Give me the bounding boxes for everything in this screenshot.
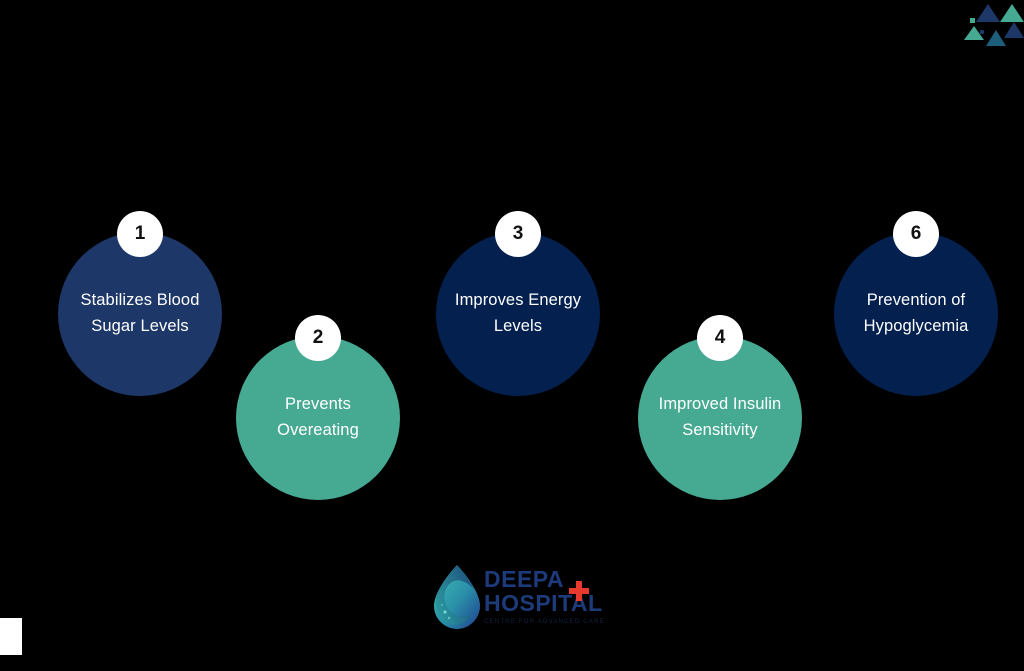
- logo-name-line-2: HOSPITAL: [484, 592, 612, 616]
- node-2: Prevents Overeating 2: [236, 336, 400, 500]
- node-6: Prevention of Hypoglycemia 6: [834, 232, 998, 396]
- node-3: Improves Energy Levels 3: [436, 232, 600, 396]
- node-badge-2: 2: [295, 315, 341, 361]
- decorative-triangles-icon: [962, 0, 1024, 52]
- corner-patch: [0, 618, 22, 655]
- brand-logo: DEEPA HOSPITAL CENTRE FOR ADVANCED CARE: [428, 558, 608, 636]
- water-drop-icon: [428, 562, 486, 632]
- node-4: Improved Insulin Sensitivity 4: [638, 336, 802, 500]
- node-badge-1: 1: [117, 211, 163, 257]
- logo-tagline: CENTRE FOR ADVANCED CARE: [484, 618, 612, 625]
- node-1: Stabilizes Blood Sugar Levels 1: [58, 232, 222, 396]
- node-label-1: Stabilizes Blood Sugar Levels: [64, 288, 215, 339]
- node-label-4: Improved Insulin Sensitivity: [643, 392, 798, 443]
- logo-wordmark: DEEPA HOSPITAL CENTRE FOR ADVANCED CARE: [484, 568, 612, 625]
- infographic-canvas: Stabilizes Blood Sugar Levels 1 Prevents…: [0, 0, 1024, 671]
- node-label-2: Prevents Overeating: [261, 392, 375, 443]
- node-badge-6: 6: [893, 211, 939, 257]
- node-badge-4: 4: [697, 315, 743, 361]
- node-badge-3: 3: [495, 211, 541, 257]
- logo-name-line-1: DEEPA: [484, 568, 612, 592]
- node-label-3: Improves Energy Levels: [439, 288, 597, 339]
- node-label-6: Prevention of Hypoglycemia: [848, 288, 985, 339]
- medical-cross-icon: [568, 580, 590, 602]
